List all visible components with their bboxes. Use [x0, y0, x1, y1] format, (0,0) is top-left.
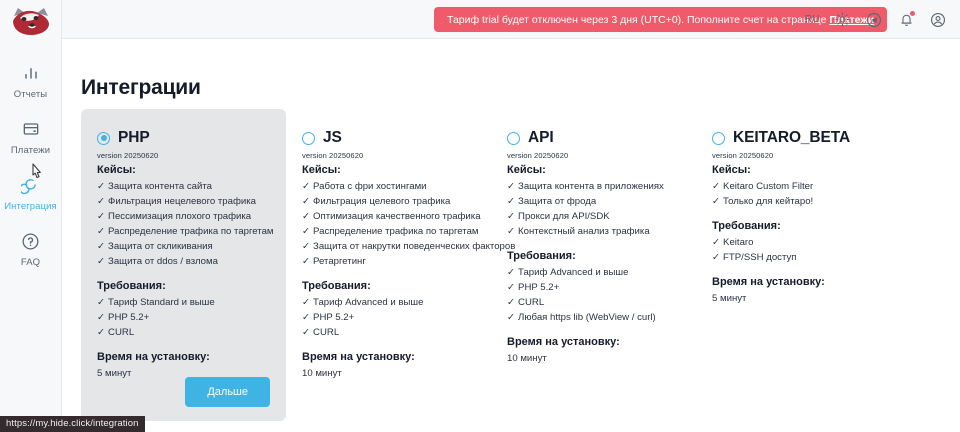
check-icon: ✓	[97, 312, 105, 323]
check-icon: ✓	[507, 267, 515, 278]
list-item-label: CURL	[518, 297, 544, 308]
list-item-label: Пессимизация плохого трафика	[108, 211, 251, 222]
radio-api-icon[interactable]	[507, 132, 520, 145]
sidebar-item-platezhi[interactable]: Платежи	[0, 108, 61, 164]
list-item: ✓Пессимизация плохого трафика	[97, 209, 270, 224]
card-title: JS	[323, 129, 342, 147]
check-icon: ✓	[507, 181, 515, 192]
list-item-label: Контекстный анализ трафика	[518, 226, 650, 237]
top-bar: Тариф trial будет отключен через 3 дня (…	[62, 0, 960, 39]
raccoon-logo[interactable]	[8, 4, 54, 40]
list-item-label: Тариф Advanced и выше	[313, 297, 423, 308]
check-icon: ✓	[97, 211, 105, 222]
top-bar-actions: RU	[805, 0, 948, 39]
check-icon: ✓	[712, 252, 720, 263]
install-time-heading: Время на установку:	[97, 351, 270, 363]
list-item: ✓Защита от ddos / взлома	[97, 254, 270, 269]
sidebar-item-integraciya[interactable]: Интеграция	[0, 164, 61, 220]
telegram-icon[interactable]	[864, 10, 884, 30]
check-icon: ✓	[712, 181, 720, 192]
radio-js-icon[interactable]	[302, 132, 315, 145]
sidebar-item-otchety[interactable]: Отчеты	[0, 52, 61, 108]
check-icon: ✓	[507, 196, 515, 207]
banner-text: Тариф trial будет отключен через 3 дня (…	[447, 14, 826, 26]
sidebar: Отчеты Платежи	[0, 0, 62, 432]
list-item: ✓CURL	[302, 325, 475, 340]
integration-card-js[interactable]: JSversion 20250620Кейсы:✓Работа с фри хо…	[286, 109, 491, 397]
list-item-label: Защита контента сайта	[108, 181, 212, 192]
sidebar-item-faq[interactable]: FAQ	[0, 220, 61, 276]
list-item-label: Защита от ddos / взлома	[108, 256, 218, 267]
cases-heading: Кейсы:	[97, 164, 270, 176]
list-item-label: Защита от накрутки поведенческих факторо…	[313, 241, 515, 252]
bar-chart-icon	[19, 61, 43, 85]
list-item: ✓PHP 5.2+	[97, 310, 270, 325]
check-icon: ✓	[97, 181, 105, 192]
list-item-label: Keitaro	[723, 237, 753, 248]
list-item: ✓Любая https lib (WebView / curl)	[507, 310, 680, 325]
check-icon: ✓	[97, 297, 105, 308]
credit-card-icon	[19, 117, 43, 141]
list-item-label: PHP 5.2+	[518, 282, 559, 293]
integration-card-php[interactable]: PHPversion 20250620Кейсы:✓Защита контент…	[81, 109, 286, 421]
list-item-label: Фильтрация целевого трафика	[313, 196, 450, 207]
check-icon: ✓	[507, 282, 515, 293]
card-header: KEITARO_BETA	[712, 129, 885, 147]
sidebar-nav: Отчеты Платежи	[0, 52, 61, 276]
install-time-value: 5 минут	[712, 291, 885, 306]
list-item: ✓Защита от накрутки поведенческих фактор…	[302, 239, 475, 254]
card-header: PHP	[97, 129, 270, 147]
page-title: Интеграции	[81, 76, 201, 100]
sidebar-item-label: Интеграция	[4, 201, 57, 212]
list-item: ✓Keitaro	[712, 235, 885, 250]
check-icon: ✓	[302, 327, 310, 338]
list-item: ✓FTP/SSH доступ	[712, 250, 885, 265]
integration-cards: PHPversion 20250620Кейсы:✓Защита контент…	[81, 109, 941, 421]
sidebar-item-label: Платежи	[11, 145, 50, 156]
card-version: version 20250620	[97, 151, 270, 160]
list-item-label: Защита контента в приложениях	[518, 181, 664, 192]
list-item: ✓Тариф Advanced и выше	[302, 295, 475, 310]
card-title: API	[528, 129, 554, 147]
card-version: version 20250620	[302, 151, 475, 160]
check-icon: ✓	[97, 196, 105, 207]
list-item-label: Защита от скликивания	[108, 241, 213, 252]
question-circle-icon	[19, 229, 43, 253]
list-item-label: Распределение трафика по таргетам	[108, 226, 273, 237]
list-item: ✓Работа с фри хостингами	[302, 179, 475, 194]
card-header: API	[507, 129, 680, 147]
check-icon: ✓	[507, 297, 515, 308]
list-item-label: Работа с фри хостингами	[313, 181, 427, 192]
list-item: ✓Ретаргетинг	[302, 254, 475, 269]
check-icon: ✓	[302, 256, 310, 267]
check-icon: ✓	[97, 226, 105, 237]
requirements-heading: Требования:	[712, 220, 885, 232]
radio-keitaro_beta-icon[interactable]	[712, 132, 725, 145]
list-item-label: PHP 5.2+	[313, 312, 354, 323]
list-item: ✓CURL	[97, 325, 270, 340]
list-item: ✓Защита контента сайта	[97, 179, 270, 194]
list-item-label: PHP 5.2+	[108, 312, 149, 323]
list-item-label: Ретаргетинг	[313, 256, 366, 267]
main-content: Интеграции PHPversion 20250620Кейсы:✓Защ…	[62, 39, 960, 432]
list-item: ✓PHP 5.2+	[507, 280, 680, 295]
check-icon: ✓	[97, 241, 105, 252]
card-title: KEITARO_BETA	[733, 129, 850, 147]
app-root: Отчеты Платежи	[0, 0, 960, 432]
card-version: version 20250620	[712, 151, 885, 160]
list-item: ✓CURL	[507, 295, 680, 310]
list-item-label: CURL	[313, 327, 339, 338]
list-item: ✓Оптимизация качественного трафика	[302, 209, 475, 224]
install-time-heading: Время на установку:	[712, 276, 885, 288]
list-item-label: Любая https lib (WebView / curl)	[518, 312, 656, 323]
check-icon: ✓	[507, 312, 515, 323]
list-item-label: Тариф Advanced и выше	[518, 267, 628, 278]
check-icon: ✓	[507, 226, 515, 237]
cases-heading: Кейсы:	[507, 164, 680, 176]
check-icon: ✓	[712, 196, 720, 207]
integration-card-keitaro_beta[interactable]: KEITARO_BETAversion 20250620Кейсы:✓Keita…	[696, 109, 901, 322]
sun-icon[interactable]	[832, 10, 852, 30]
list-item-label: Тариф Standard и выше	[108, 297, 215, 308]
list-item: ✓Распределение трафика по таргетам	[97, 224, 270, 239]
list-item: ✓Keitaro Custom Filter	[712, 179, 885, 194]
install-time-value: 10 минут	[302, 366, 475, 381]
card-version: version 20250620	[507, 151, 680, 160]
requirements-heading: Требования:	[302, 280, 475, 292]
requirements-heading: Требования:	[97, 280, 270, 292]
notification-badge	[909, 10, 916, 17]
install-time-value: 10 минут	[507, 351, 680, 366]
status-bar-url: https://my.hide.click/integration	[0, 416, 145, 432]
list-item: ✓Фильтрация нецелевого трафика	[97, 194, 270, 209]
list-item: ✓Защита от фрода	[507, 194, 680, 209]
check-icon: ✓	[302, 196, 310, 207]
integration-icon	[19, 173, 43, 197]
integration-card-api[interactable]: APIversion 20250620Кейсы:✓Защита контент…	[491, 109, 696, 382]
list-item: ✓Контекстный анализ трафика	[507, 224, 680, 239]
check-icon: ✓	[507, 211, 515, 222]
language-selector[interactable]: RU	[805, 14, 820, 25]
check-icon: ✓	[97, 327, 105, 338]
user-avatar-icon[interactable]	[928, 10, 948, 30]
card-header: JS	[302, 129, 475, 147]
list-item: ✓Фильтрация целевого трафика	[302, 194, 475, 209]
list-item-label: Keitaro Custom Filter	[723, 181, 813, 192]
card-title: PHP	[118, 129, 150, 147]
check-icon: ✓	[302, 181, 310, 192]
list-item: ✓Защита контента в приложениях	[507, 179, 680, 194]
list-item-label: Распределение трафика по таргетам	[313, 226, 478, 237]
list-item: ✓Только для кейтаро!	[712, 194, 885, 209]
next-button[interactable]: Дальше	[185, 377, 270, 407]
list-item: ✓Распределение трафика по таргетам	[302, 224, 475, 239]
list-item: ✓Тариф Advanced и выше	[507, 265, 680, 280]
list-item: ✓Прокси для API/SDK	[507, 209, 680, 224]
check-icon: ✓	[302, 241, 310, 252]
list-item: ✓PHP 5.2+	[302, 310, 475, 325]
list-item: ✓Защита от скликивания	[97, 239, 270, 254]
list-item-label: FTP/SSH доступ	[723, 252, 796, 263]
sidebar-item-label: Отчеты	[14, 89, 47, 100]
requirements-heading: Требования:	[507, 250, 680, 262]
check-icon: ✓	[302, 312, 310, 323]
check-icon: ✓	[302, 297, 310, 308]
cases-heading: Кейсы:	[712, 164, 885, 176]
install-time-heading: Время на установку:	[302, 351, 475, 363]
check-icon: ✓	[97, 256, 105, 267]
list-item-label: Оптимизация качественного трафика	[313, 211, 480, 222]
list-item-label: Защита от фрода	[518, 196, 596, 207]
cases-heading: Кейсы:	[302, 164, 475, 176]
list-item-label: Прокси для API/SDK	[518, 211, 610, 222]
radio-php-icon[interactable]	[97, 132, 110, 145]
check-icon: ✓	[712, 237, 720, 248]
list-item: ✓Тариф Standard и выше	[97, 295, 270, 310]
list-item-label: Фильтрация нецелевого трафика	[108, 196, 256, 207]
bell-icon[interactable]	[896, 10, 916, 30]
check-icon: ✓	[302, 211, 310, 222]
check-icon: ✓	[302, 226, 310, 237]
sidebar-item-label: FAQ	[21, 257, 40, 268]
list-item-label: Только для кейтаро!	[723, 196, 813, 207]
install-time-heading: Время на установку:	[507, 336, 680, 348]
list-item-label: CURL	[108, 327, 134, 338]
